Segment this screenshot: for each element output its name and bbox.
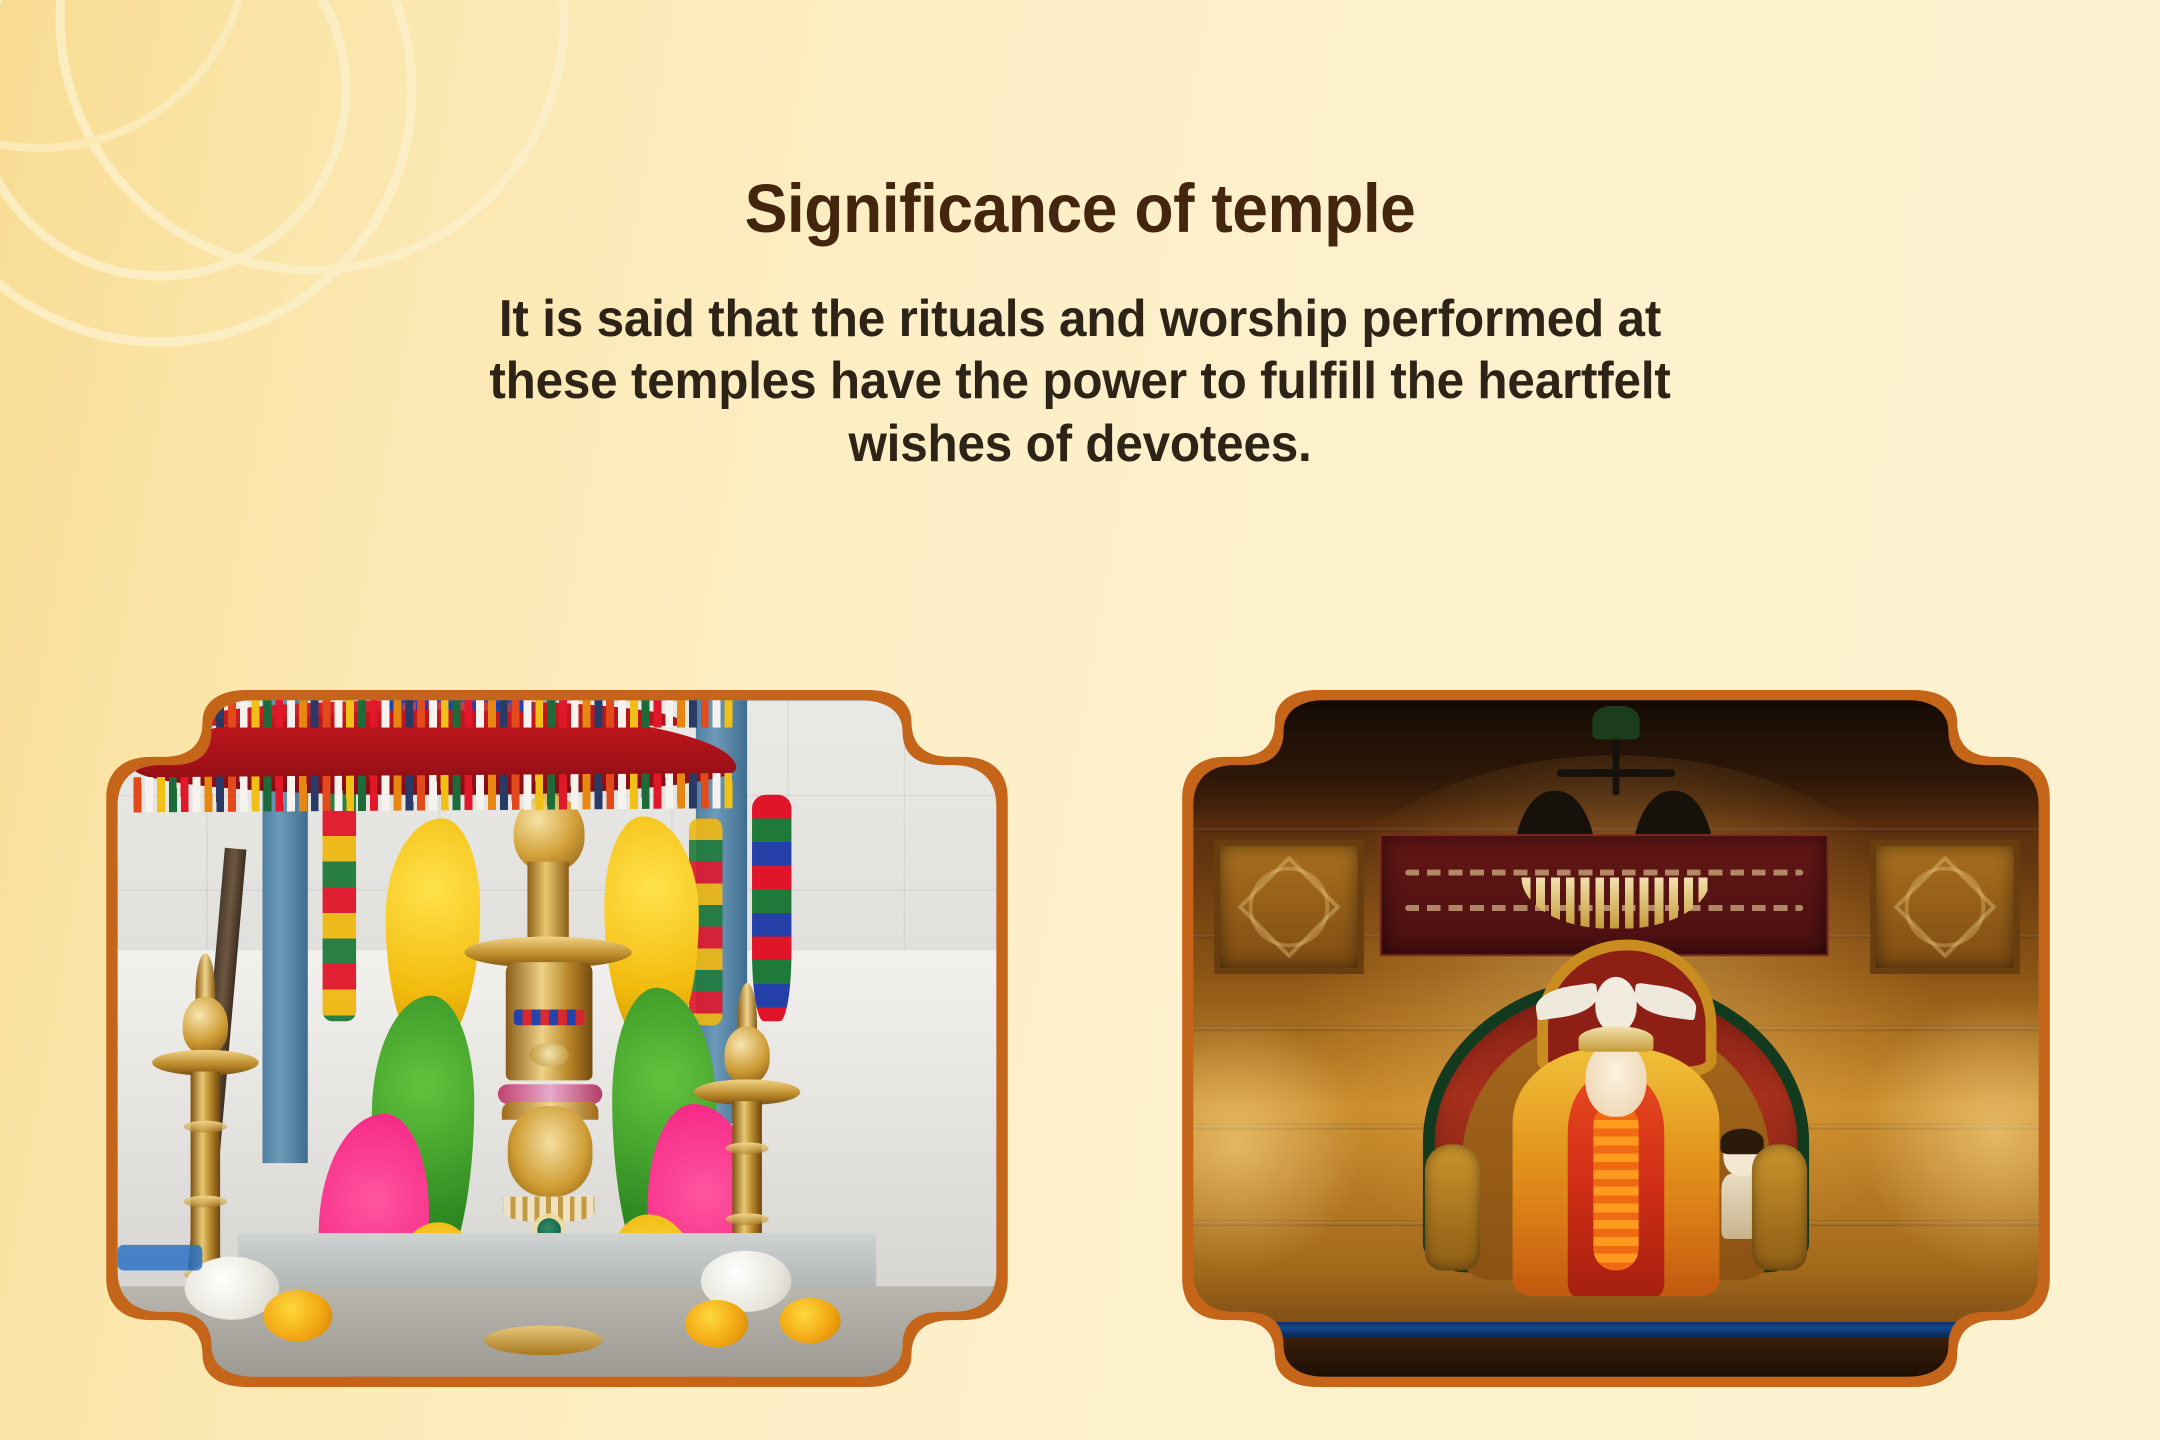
idol-throne (1423, 977, 1809, 1334)
carved-panel-left (1214, 840, 1364, 974)
goddess-idol (1513, 1032, 1720, 1296)
veena-right (1752, 1144, 1807, 1270)
slide-canvas: Significance of temple It is said that t… (0, 0, 2160, 1440)
body-line-1: It is said that the rituals and worship … (263, 288, 1897, 350)
ceremonial-canopy (133, 700, 736, 806)
photo-card-right (1155, 690, 2077, 1387)
photo-left-inner (90, 700, 1024, 1377)
carved-panel-right (1870, 840, 2020, 974)
body-line-2: these temples have the power to fulfill … (263, 350, 1897, 412)
page-title: Significance of temple (76, 174, 2085, 243)
photo-card-left (78, 690, 1036, 1387)
image-saraswati-shrine (1167, 700, 2065, 1377)
body-paragraph: It is said that the rituals and worship … (263, 288, 1897, 475)
image-temple-deity-canopy (90, 700, 1024, 1377)
photo-right-inner (1167, 700, 2065, 1377)
veena-left (1425, 1144, 1480, 1270)
body-line-3: wishes of devotees. (263, 413, 1897, 475)
